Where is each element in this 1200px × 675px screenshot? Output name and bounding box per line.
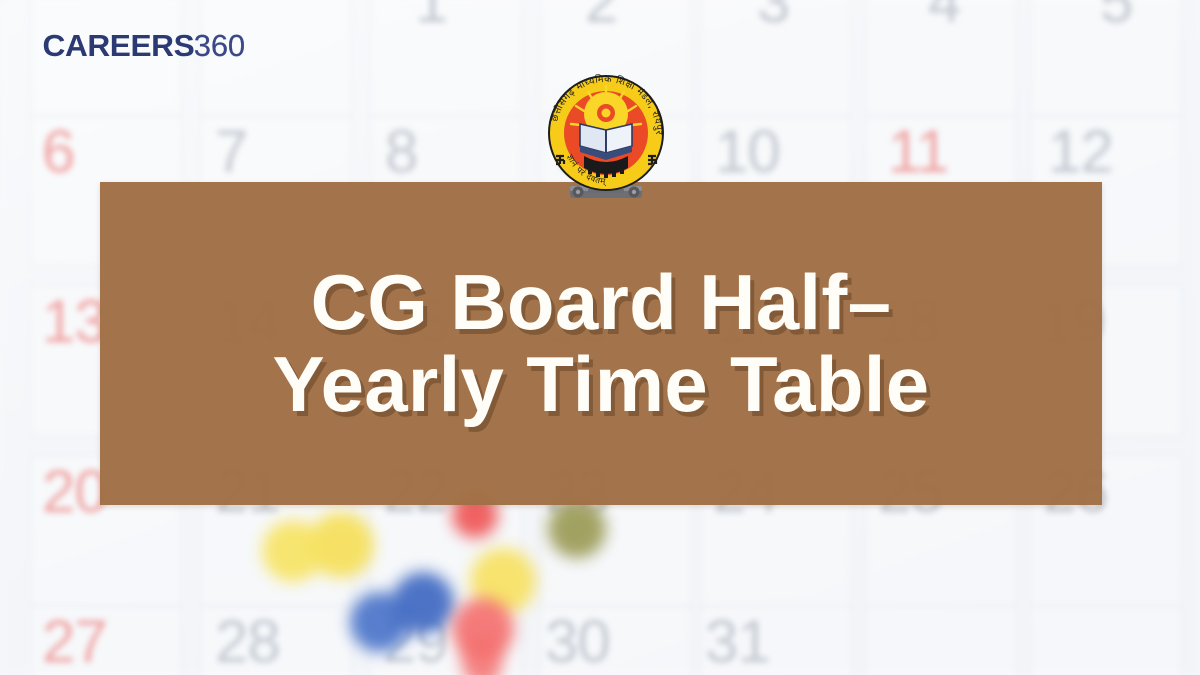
banner-canvas: 1234567891011121314151617181920212223242… xyxy=(0,0,1200,675)
yellow-pin-2 xyxy=(308,512,374,578)
calendar-date-number: 5 xyxy=(1100,0,1132,32)
coral-pin-stem xyxy=(462,636,502,675)
calendar-date-number: 12 xyxy=(1048,122,1113,182)
calendar-cell xyxy=(1030,605,1182,675)
logo-careers-text: CAREERS xyxy=(43,30,195,61)
careers360-logo: CAREERS 360 xyxy=(44,30,245,61)
calendar-date-number: 1 xyxy=(415,0,447,32)
calendar-date-number: 2 xyxy=(585,0,617,32)
blue-pin-2 xyxy=(392,572,454,634)
olive-blur xyxy=(548,500,606,558)
calendar-date-number: 28 xyxy=(215,612,280,672)
calendar-date-number: 4 xyxy=(928,0,960,32)
calendar-cell xyxy=(865,605,1017,675)
calendar-date-number: 31 xyxy=(705,612,770,672)
cgbse-board-emblem-icon: छत्तीसगढ़ माध्यमिक शिक्षा मंडल, रायपुर ज… xyxy=(536,68,676,208)
calendar-date-number: 27 xyxy=(42,612,107,672)
calendar-date-number: 6 xyxy=(42,122,74,182)
calendar-date-number: 10 xyxy=(715,122,780,182)
calendar-date-number: 20 xyxy=(42,462,107,522)
calendar-date-number: 3 xyxy=(757,0,789,32)
calendar-date-number: 13 xyxy=(42,292,107,352)
page-title: CG Board Half– Yearly Time Table xyxy=(100,262,1102,424)
title-banner: CG Board Half– Yearly Time Table xyxy=(100,182,1102,505)
calendar-date-number: 11 xyxy=(888,122,948,182)
calendar-date-number: 30 xyxy=(545,612,610,672)
calendar-date-number: 8 xyxy=(385,122,417,182)
calendar-date-number: 7 xyxy=(215,122,247,182)
logo-360-text: 360 xyxy=(194,30,245,61)
